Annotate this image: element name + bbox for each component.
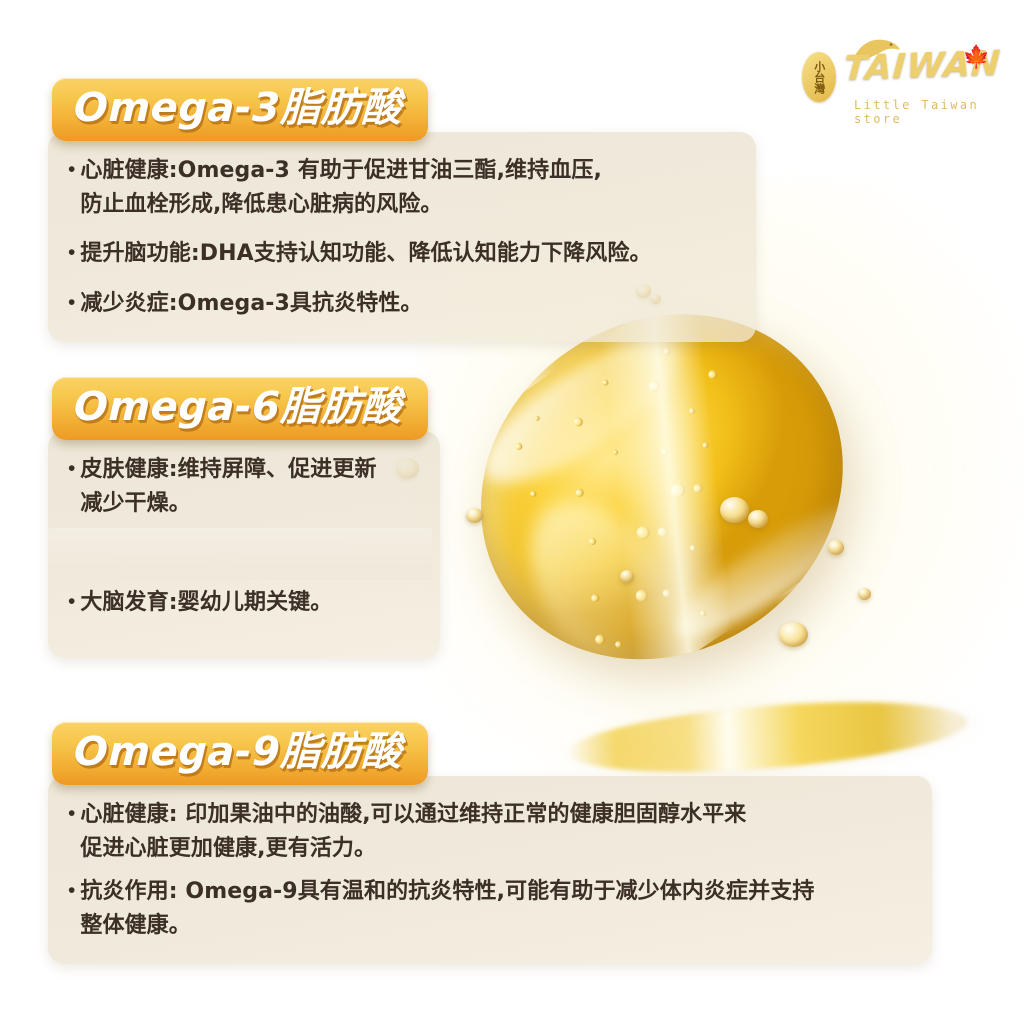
blank-erased-strip <box>48 528 432 580</box>
panel-omega-6: • 皮肤健康:维持屏障、促进更新 减少干燥。 • 大脑发育:婴幼儿期关键。 <box>48 431 440 657</box>
bullet-dot-icon: • <box>68 798 75 830</box>
bullet-item: • 心脏健康: 印加果油中的油酸,可以通过维持正常的健康胆固醇水平来 促进心脏更… <box>68 798 906 865</box>
bullet-text: 心脏健康:Omega-3 有助于促进甘油三酯,维持血压, 防止血栓形成,降低患心… <box>80 154 602 221</box>
bullet-dot-icon: • <box>68 875 75 907</box>
bullet-text: 减少炎症:Omega-3具抗炎特性。 <box>80 287 422 320</box>
bullet-dot-icon: • <box>68 453 75 485</box>
bullet-text: 大脑发育:婴幼儿期关键。 <box>80 586 332 619</box>
bullet-text: 提升脑功能:DHA支持认知功能、降低认知能力下降风险。 <box>80 237 651 270</box>
section-omega-6: Omega-6脂肪酸 • 皮肤健康:维持屏障、促进更新 减少干燥。 • 大脑发育… <box>48 377 440 658</box>
bullet-text: 皮肤健康:维持屏障、促进更新 减少干燥。 <box>80 453 376 520</box>
bullet-dot-icon: • <box>68 154 75 186</box>
bullet-text: 抗炎作用: Omega-9具有温和的抗炎特性,可能有助于减少体内炎症并支持 整体… <box>80 875 814 942</box>
bullet-item: • 提升脑功能:DHA支持认知功能、降低认知能力下降风险。 <box>68 237 730 270</box>
omega-sections: Omega-3脂肪酸 • 心脏健康:Omega-3 有助于促进甘油三酯,维持血压… <box>0 0 1024 1024</box>
bullet-text: 心脏健康: 印加果油中的油酸,可以通过维持正常的健康胆固醇水平来 促进心脏更加健… <box>80 798 746 865</box>
panel-omega-9: • 心脏健康: 印加果油中的油酸,可以通过维持正常的健康胆固醇水平来 促进心脏更… <box>48 776 932 964</box>
bullet-dot-icon: • <box>68 237 75 269</box>
bullet-dot-icon: • <box>68 586 75 618</box>
badge-omega-9[interactable]: Omega-9脂肪酸 <box>52 722 428 785</box>
badge-omega-6-label: Omega-6脂肪酸 <box>73 386 402 428</box>
badge-omega-9-label: Omega-9脂肪酸 <box>73 731 402 773</box>
bullet-item: • 大脑发育:婴幼儿期关键。 <box>68 586 414 619</box>
bullet-item: • 心脏健康:Omega-3 有助于促进甘油三酯,维持血压, 防止血栓形成,降低… <box>68 154 730 221</box>
section-omega-3: Omega-3脂肪酸 • 心脏健康:Omega-3 有助于促进甘油三酯,维持血压… <box>48 78 756 342</box>
panel-omega-3: • 心脏健康:Omega-3 有助于促进甘油三酯,维持血压, 防止血栓形成,降低… <box>48 132 756 342</box>
section-omega-9: Omega-9脂肪酸 • 心脏健康: 印加果油中的油酸,可以通过维持正常的健康胆… <box>48 722 932 964</box>
badge-omega-3-label: Omega-3脂肪酸 <box>73 87 402 129</box>
bullet-item: • 减少炎症:Omega-3具抗炎特性。 <box>68 287 730 320</box>
badge-omega-3[interactable]: Omega-3脂肪酸 <box>52 78 428 141</box>
badge-omega-6[interactable]: Omega-6脂肪酸 <box>52 377 428 440</box>
bullet-dot-icon: • <box>68 287 75 319</box>
bullet-item: • 皮肤健康:维持屏障、促进更新 减少干燥。 <box>68 453 414 520</box>
bullet-item: • 抗炎作用: Omega-9具有温和的抗炎特性,可能有助于减少体内炎症并支持 … <box>68 875 906 942</box>
